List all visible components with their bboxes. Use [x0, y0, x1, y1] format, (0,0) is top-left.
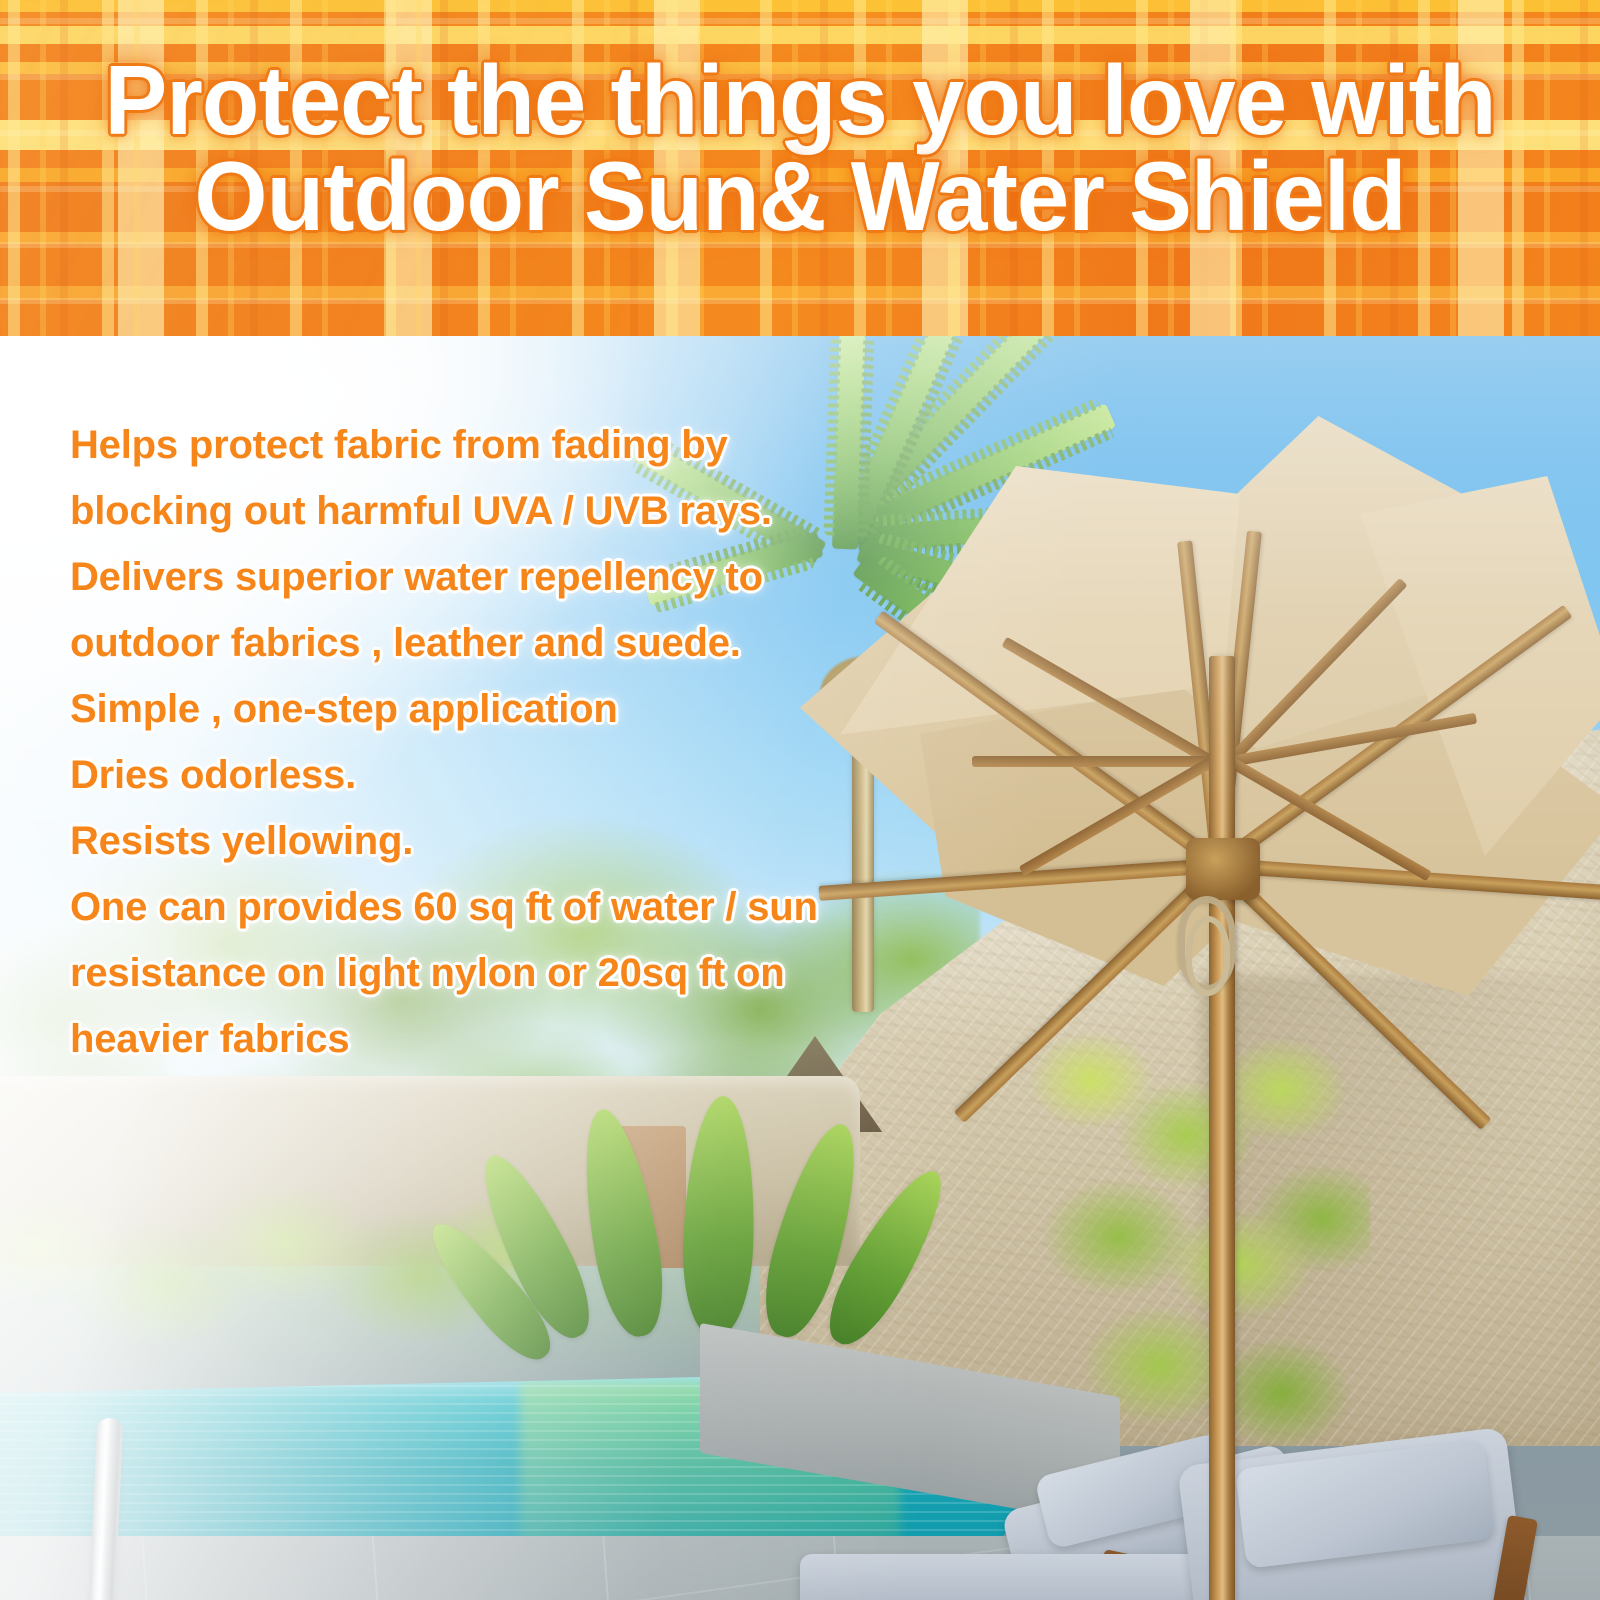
feature-line: heavier fabrics: [70, 1006, 970, 1072]
header-banner: Protect the things you love with Outdoor…: [0, 0, 1600, 338]
poster-canvas: Protect the things you love with Outdoor…: [0, 0, 1600, 1600]
feature-line: One can provides 60 sq ft of water / sun: [70, 874, 970, 940]
feature-line: Delivers superior water repellency to: [70, 544, 970, 610]
feature-line: resistance on light nylon or 20sq ft on: [70, 940, 970, 1006]
umbrella-pole: [1209, 656, 1235, 1600]
feature-line: Dries odorless.: [70, 742, 970, 808]
feature-line: Simple , one-step application: [70, 676, 970, 742]
page-title: Protect the things you love with Outdoor…: [32, 52, 1568, 244]
feature-list: Helps protect fabric from fading by bloc…: [70, 412, 970, 1072]
umbrella-rope-inner: [1186, 916, 1230, 996]
umbrella-hub: [1186, 838, 1260, 900]
feature-line: Helps protect fabric from fading by: [70, 412, 970, 478]
feature-line: blocking out harmful UVA / UVB rays.: [70, 478, 970, 544]
feature-line: Resists yellowing.: [70, 808, 970, 874]
feature-line: outdoor fabrics , leather and suede.: [70, 610, 970, 676]
